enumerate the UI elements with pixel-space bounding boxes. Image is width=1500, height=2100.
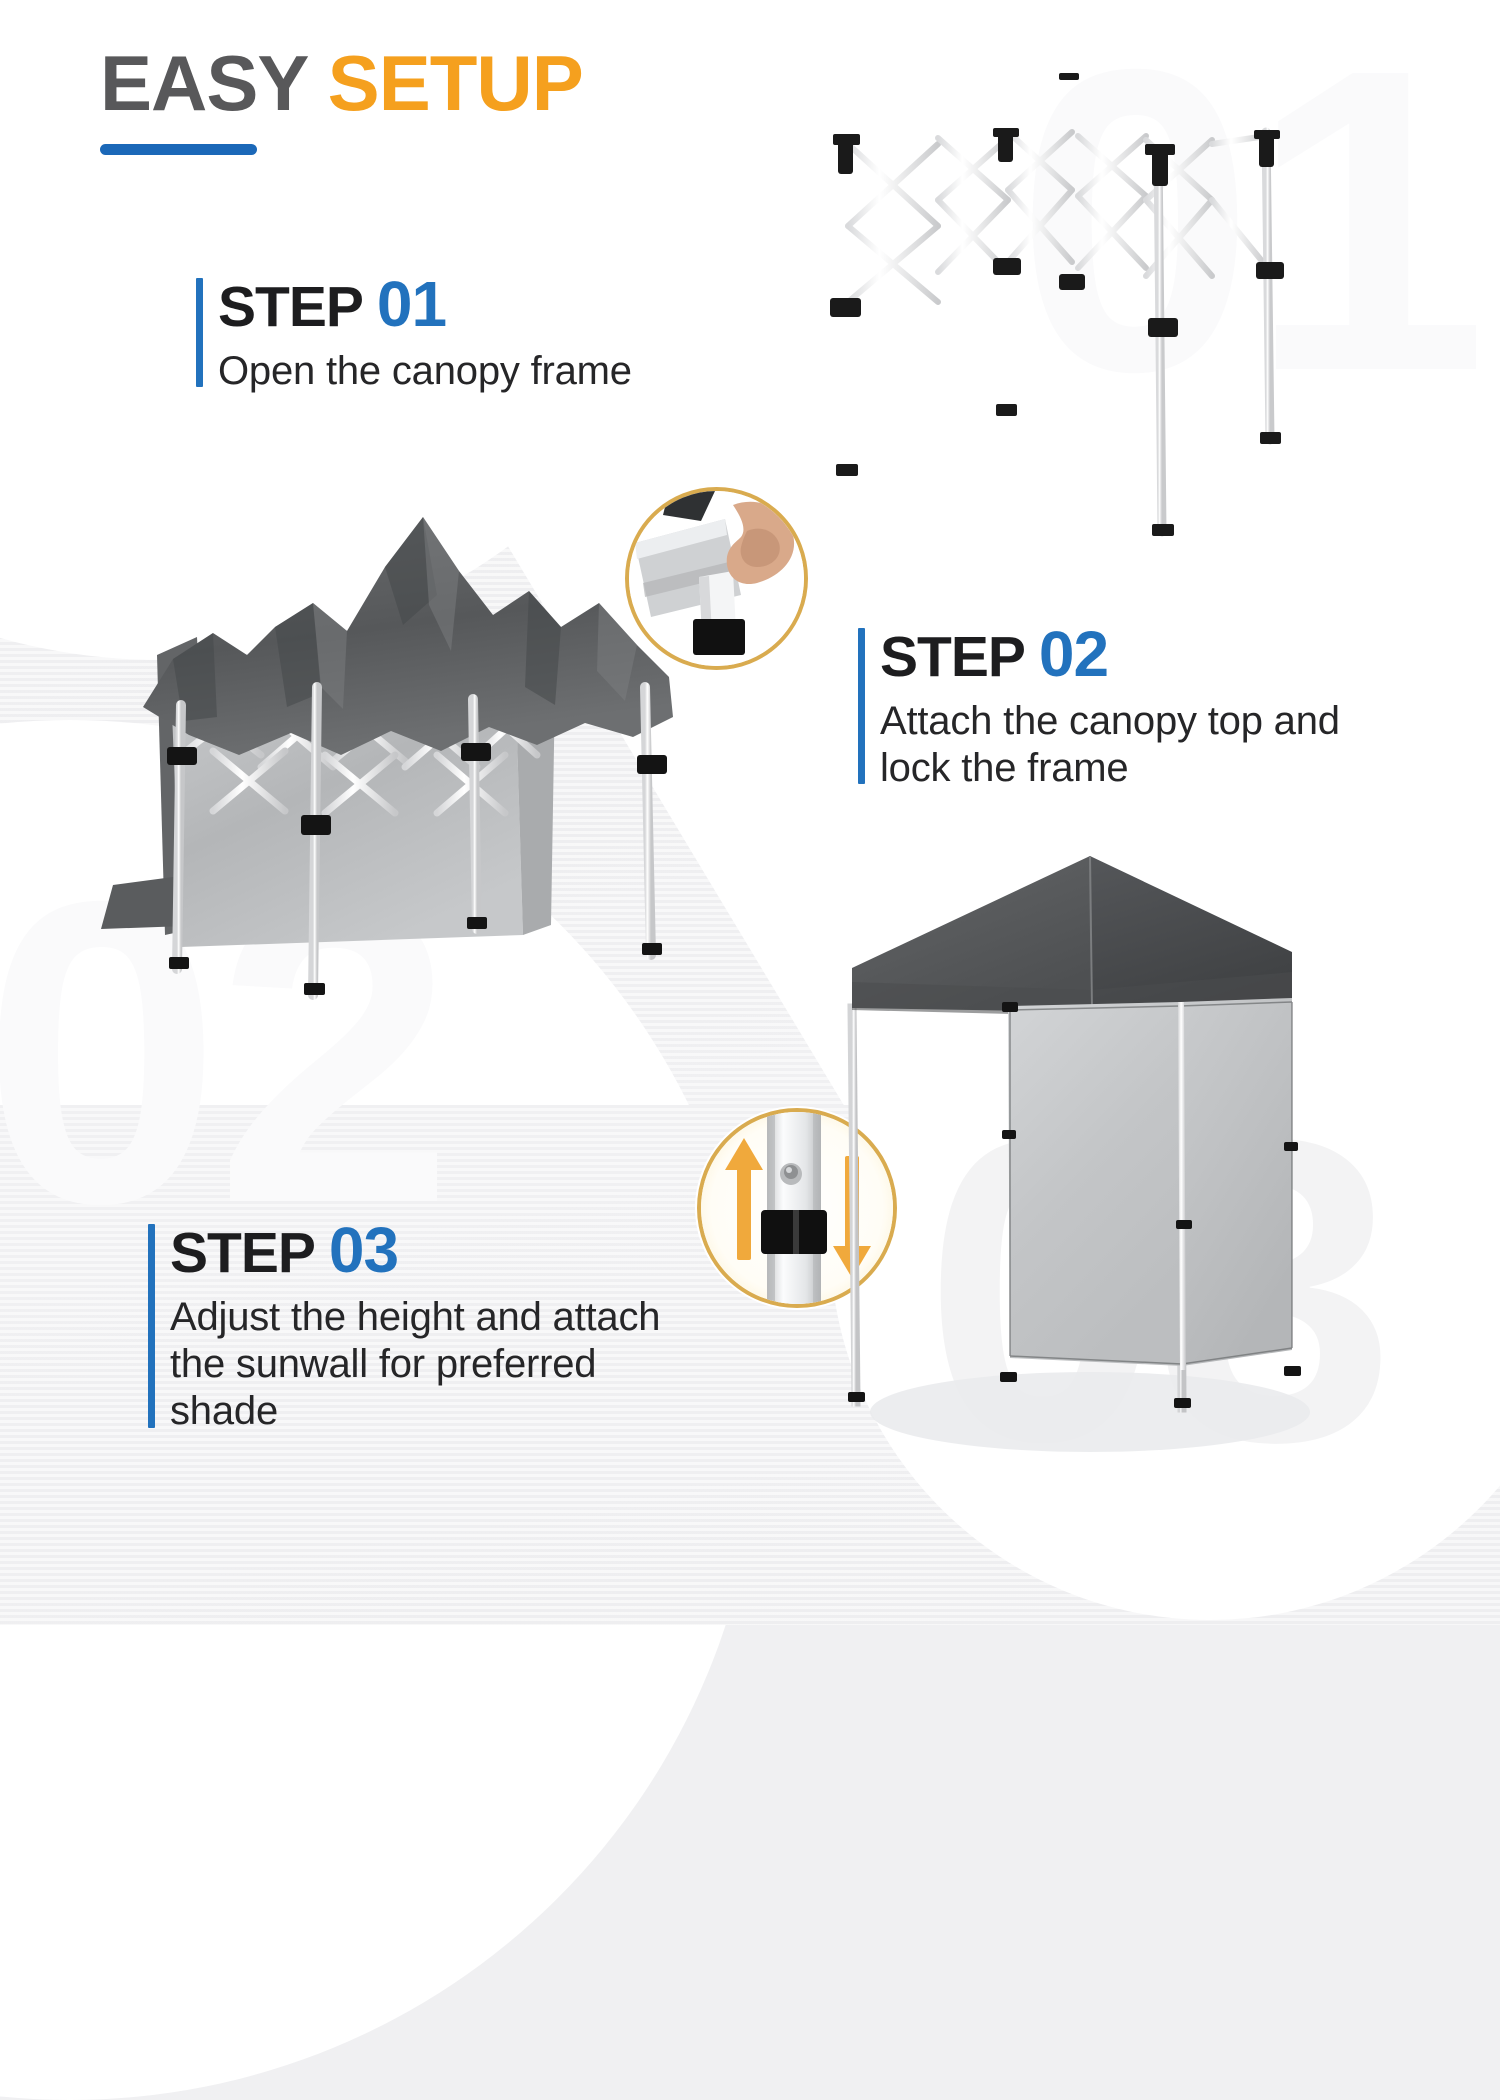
open-frame-illustration [800,40,1300,540]
step-01-description: Open the canopy frame [218,348,632,395]
ground-shadow [870,1372,1310,1452]
push-button-highlight [786,1167,792,1173]
sunwall-front-panel [1008,1002,1182,1366]
half-assembled-illustration [85,455,725,1000]
step-02-number: 02 [1039,618,1108,690]
figure-canopy-top-draped [85,455,725,1000]
page-title-part-setup: SETUP [328,39,583,127]
step-block-02: STEP02 Attach the canopy top and lock th… [858,622,1350,792]
step-03-number: 03 [329,1214,398,1286]
step-03-description: Adjust the height and attach the sunwall… [170,1294,715,1436]
step-01-heading: STEP01 [218,272,632,336]
step-02-word: STEP [880,625,1025,689]
title-underline-bar [100,144,257,155]
infographic-canvas: 01 02 03 EASY SETUP STEP01 Open the cano… [0,0,1500,1500]
callout-velcro-strap [625,487,808,670]
figure-finished-canopy [840,830,1380,1460]
step-03-word: STEP [170,1221,315,1285]
step-01-number: 01 [377,268,446,340]
page-title: EASY SETUP [100,44,583,122]
step-01-word: STEP [218,275,363,339]
figure-open-canopy-frame [800,40,1300,540]
step-02-description: Attach the canopy top and lock the frame [880,698,1350,792]
page-title-part-easy: EASY [100,39,307,127]
step-block-01: STEP01 Open the canopy frame [196,272,632,395]
velcro-band [693,619,745,655]
pole-edge-left [767,1112,775,1304]
step-03-heading: STEP03 [170,1218,715,1282]
header: EASY SETUP [100,44,583,155]
finished-canopy-illustration [840,830,1380,1460]
pole-edge-right [813,1112,821,1304]
slider-collar-edge [793,1210,799,1254]
sunwall-right-panel [1180,998,1292,1366]
step-block-03: STEP03 Adjust the height and attach the … [148,1218,715,1436]
step-02-heading: STEP02 [880,622,1350,686]
velcro-strap-illustration [629,491,804,666]
leg-pole [767,1112,821,1304]
